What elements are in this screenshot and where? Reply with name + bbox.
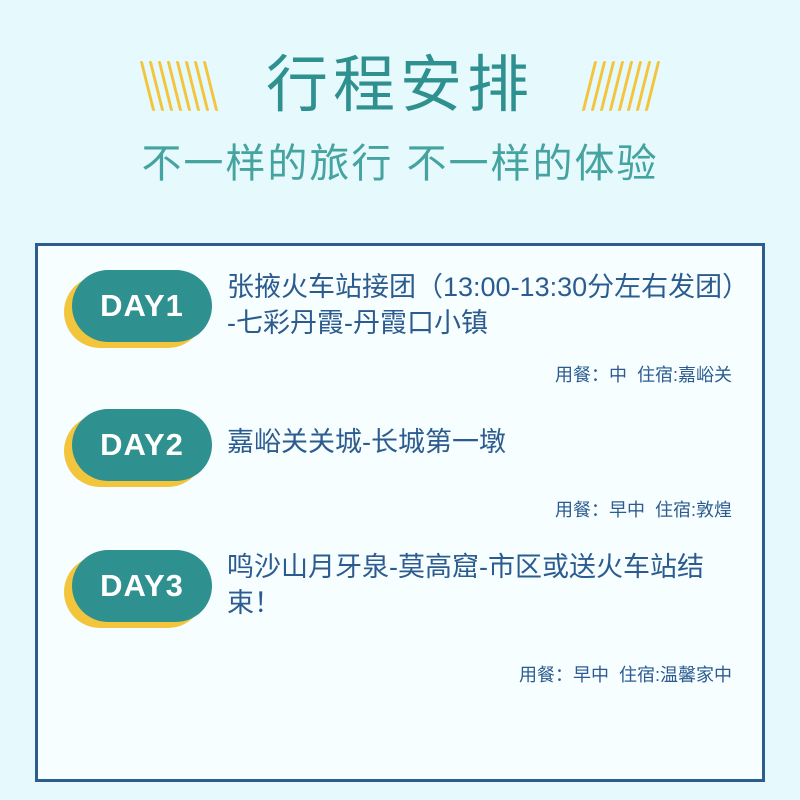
lodging-label: 住宿:	[619, 665, 660, 685]
badge-label: DAY1	[72, 270, 212, 342]
lodging-value: 敦煌	[696, 500, 732, 520]
day-meta-1: 用餐：中住宿:嘉峪关	[38, 361, 762, 387]
day-description: 嘉峪关关城-长城第一墩	[209, 409, 762, 461]
day-badge-2[interactable]: DAY2	[64, 409, 209, 484]
lodging-label: 住宿:	[637, 365, 678, 385]
meals-label: 用餐：	[519, 665, 573, 685]
title-row: 行程安排	[0, 46, 800, 126]
day-description: 张掖火车站接团（13:00-13:30分左右发团）-七彩丹霞-丹霞口小镇	[209, 270, 762, 341]
day-description: 鸣沙山月牙泉-莫高窟-市区或送火车站结束！	[209, 550, 762, 621]
badge-label: DAY3	[72, 550, 212, 622]
itinerary-day-3: DAY3 鸣沙山月牙泉-莫高窟-市区或送火车站结束！ 用餐：早中住宿:温馨家中	[38, 522, 762, 687]
meals-label: 用餐：	[555, 365, 609, 385]
day-row: DAY3 鸣沙山月牙泉-莫高窟-市区或送火车站结束！	[38, 550, 762, 625]
meals-value: 中	[609, 365, 627, 385]
day-meta-3: 用餐：早中住宿:温馨家中	[38, 661, 762, 687]
day-badge-3[interactable]: DAY3	[64, 550, 209, 625]
lodging-value: 嘉峪关	[678, 365, 732, 385]
meals-value: 早中	[609, 500, 645, 520]
day-row: DAY2 嘉峪关关城-长城第一墩	[38, 409, 762, 484]
lodging-value: 温馨家中	[660, 665, 732, 685]
meals-value: 早中	[573, 665, 609, 685]
day-badge-1[interactable]: DAY1	[64, 270, 209, 345]
page-header: 行程安排 不一样的旅行 不一样的体验	[0, 0, 800, 230]
itinerary-day-1: DAY1 张掖火车站接团（13:00-13:30分左右发团）-七彩丹霞-丹霞口小…	[38, 246, 762, 387]
itinerary-day-2: DAY2 嘉峪关关城-长城第一墩 用餐：早中住宿:敦煌	[38, 387, 762, 522]
itinerary-card: DAY1 张掖火车站接团（13:00-13:30分左右发团）-七彩丹霞-丹霞口小…	[35, 243, 765, 782]
lodging-label: 住宿:	[655, 500, 696, 520]
page-title: 行程安排	[266, 55, 534, 117]
badge-label: DAY2	[72, 409, 212, 481]
day-meta-2: 用餐：早中住宿:敦煌	[38, 496, 762, 522]
page-subtitle: 不一样的旅行 不一样的体验	[0, 140, 800, 188]
backslash-hatch-icon	[146, 60, 212, 112]
day-row: DAY1 张掖火车站接团（13:00-13:30分左右发团）-七彩丹霞-丹霞口小…	[38, 270, 762, 345]
forwardslash-hatch-icon	[588, 60, 654, 112]
meals-label: 用餐：	[555, 500, 609, 520]
